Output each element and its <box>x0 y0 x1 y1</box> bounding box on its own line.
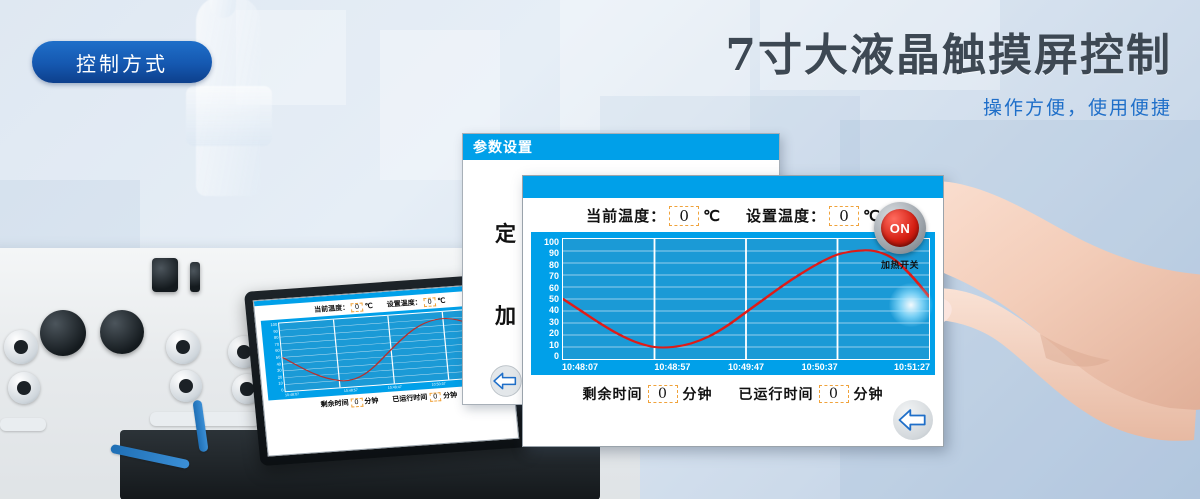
elapsed-time-label: 已运行时间 <box>739 384 814 404</box>
heating-power-button[interactable]: ON <box>874 202 926 254</box>
elapsed-time-unit: 分钟 <box>854 384 884 404</box>
tablet-set-temp-label: 设置温度： <box>386 297 422 309</box>
headline-block: 7寸大液晶触摸屏控制 操作方便，使用便捷 <box>725 33 1172 120</box>
control-method-badge-label: 控制方式 <box>76 48 168 77</box>
valve-fitting <box>8 372 40 404</box>
tablet-elapsed-label: 已运行时间 <box>392 392 428 404</box>
page-subtitle: 操作方便，使用便捷 <box>725 93 1172 120</box>
tablet-set-temp-value: 0 <box>423 297 436 307</box>
y-tick: 80 <box>549 261 559 269</box>
control-knob <box>190 262 200 292</box>
set-temperature-label: 设置温度： <box>746 205 826 226</box>
chart-y-axis: 100 90 80 70 60 50 40 30 20 10 0 <box>536 238 562 360</box>
back-arrow-icon <box>895 402 931 438</box>
y-tick: 0 <box>554 352 559 360</box>
elapsed-time-group: 已运行时间 0 分钟 <box>739 384 884 404</box>
y-tick: 70 <box>549 272 559 280</box>
heating-power-button-face: ON <box>881 209 919 247</box>
setting-row-1-label: 定 <box>495 218 516 248</box>
x-tick: 10:50:37 <box>783 362 857 372</box>
x-tick: 10:48:07 <box>562 362 636 372</box>
set-temperature-group: 设置温度： 0 ℃ <box>746 205 880 226</box>
x-tick: 10:51:27 <box>856 362 930 372</box>
valve-fitting <box>4 330 38 364</box>
setting-row-2-label: 加 <box>495 300 516 330</box>
heating-switch-zone: ON 加热开关 <box>863 202 937 271</box>
control-method-badge: 控制方式 <box>32 41 212 83</box>
control-knob <box>100 310 144 354</box>
tablet-elapsed-value: 0 <box>429 392 442 402</box>
heating-switch-label: 加热开关 <box>863 258 937 271</box>
set-temperature-value[interactable]: 0 <box>829 206 859 226</box>
x-tick: 10:48:57 <box>636 362 710 372</box>
y-tick: 90 <box>549 249 559 257</box>
elapsed-time-value[interactable]: 0 <box>819 385 849 403</box>
remaining-time-group: 剩余时间 0 分钟 <box>583 384 713 404</box>
chart-x-axis: 10:48:07 10:48:57 10:49:47 10:50:37 10:5… <box>536 362 930 372</box>
y-tick: 30 <box>549 318 559 326</box>
control-knob <box>152 258 178 292</box>
current-temperature-label: 当前温度： <box>586 205 666 226</box>
control-knob <box>40 310 86 356</box>
tablet-set-temp-unit: ℃ <box>437 297 446 306</box>
y-tick: 100 <box>544 238 559 246</box>
time-readout-row: 剩余时间 0 分钟 已运行时间 0 分钟 <box>523 375 943 404</box>
monitor-titlebar <box>523 176 943 198</box>
parameter-settings-titlebar: 参数设置 <box>463 134 779 160</box>
remaining-time-unit: 分钟 <box>683 384 713 404</box>
tablet-remaining-label: 剩余时间 <box>320 398 349 410</box>
tablet-current-temp-value: 0 <box>351 302 364 312</box>
tablet-current-temp-label: 当前温度： <box>314 303 350 315</box>
x-tick: 10:49:47 <box>709 362 783 372</box>
temperature-monitor-panel[interactable]: 当前温度： 0 ℃ 设置温度： 0 ℃ 100 90 80 70 60 50 4… <box>522 175 944 447</box>
y-tick: 10 <box>549 341 559 349</box>
current-temperature-group: 当前温度： 0 ℃ <box>586 205 720 226</box>
tubing <box>0 418 46 431</box>
current-temperature-value[interactable]: 0 <box>669 206 699 226</box>
y-tick: 50 <box>549 295 559 303</box>
valve-fitting <box>170 370 202 402</box>
valve-fitting <box>166 330 200 364</box>
back-button-back-panel[interactable] <box>489 364 523 398</box>
y-tick: 20 <box>549 329 559 337</box>
current-temperature-unit: ℃ <box>703 207 720 225</box>
page-title: 7寸大液晶触摸屏控制 <box>725 33 1172 79</box>
tablet-remaining-value: 0 <box>350 397 363 407</box>
parameter-settings-title: 参数设置 <box>473 137 533 157</box>
y-tick: 60 <box>549 284 559 292</box>
y-tick: 40 <box>549 306 559 314</box>
tablet-elapsed-unit: 分钟 <box>443 390 458 401</box>
remaining-time-label: 剩余时间 <box>583 384 643 404</box>
tablet-current-temp-unit: ℃ <box>365 302 374 311</box>
back-button-front-panel[interactable] <box>893 400 933 440</box>
glassware-joint <box>186 86 272 146</box>
back-arrow-icon <box>489 364 523 398</box>
tubing <box>150 412 260 426</box>
tablet-remaining-unit: 分钟 <box>364 396 379 407</box>
remaining-time-value[interactable]: 0 <box>648 385 678 403</box>
